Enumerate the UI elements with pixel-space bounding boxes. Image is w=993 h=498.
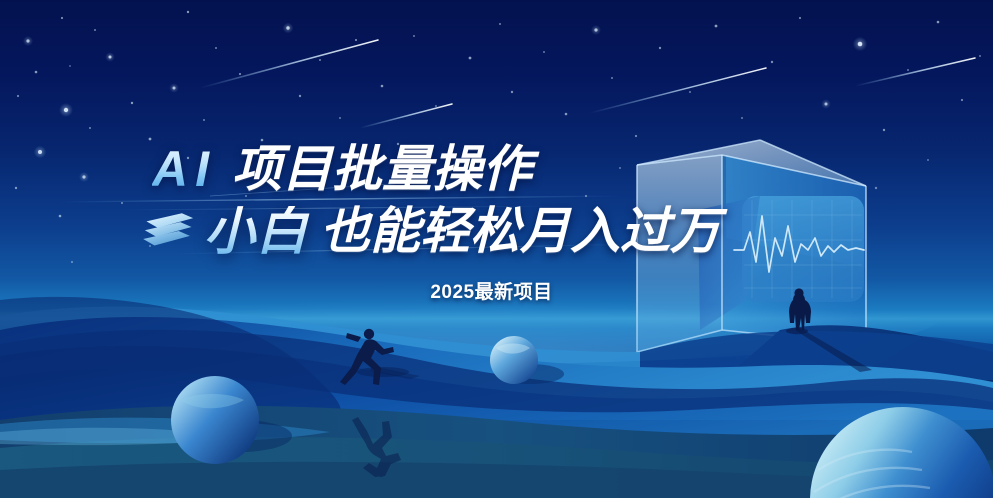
light-streak-layer	[0, 0, 993, 498]
poster-canvas: AI 项目批量操作 小白	[0, 0, 993, 498]
